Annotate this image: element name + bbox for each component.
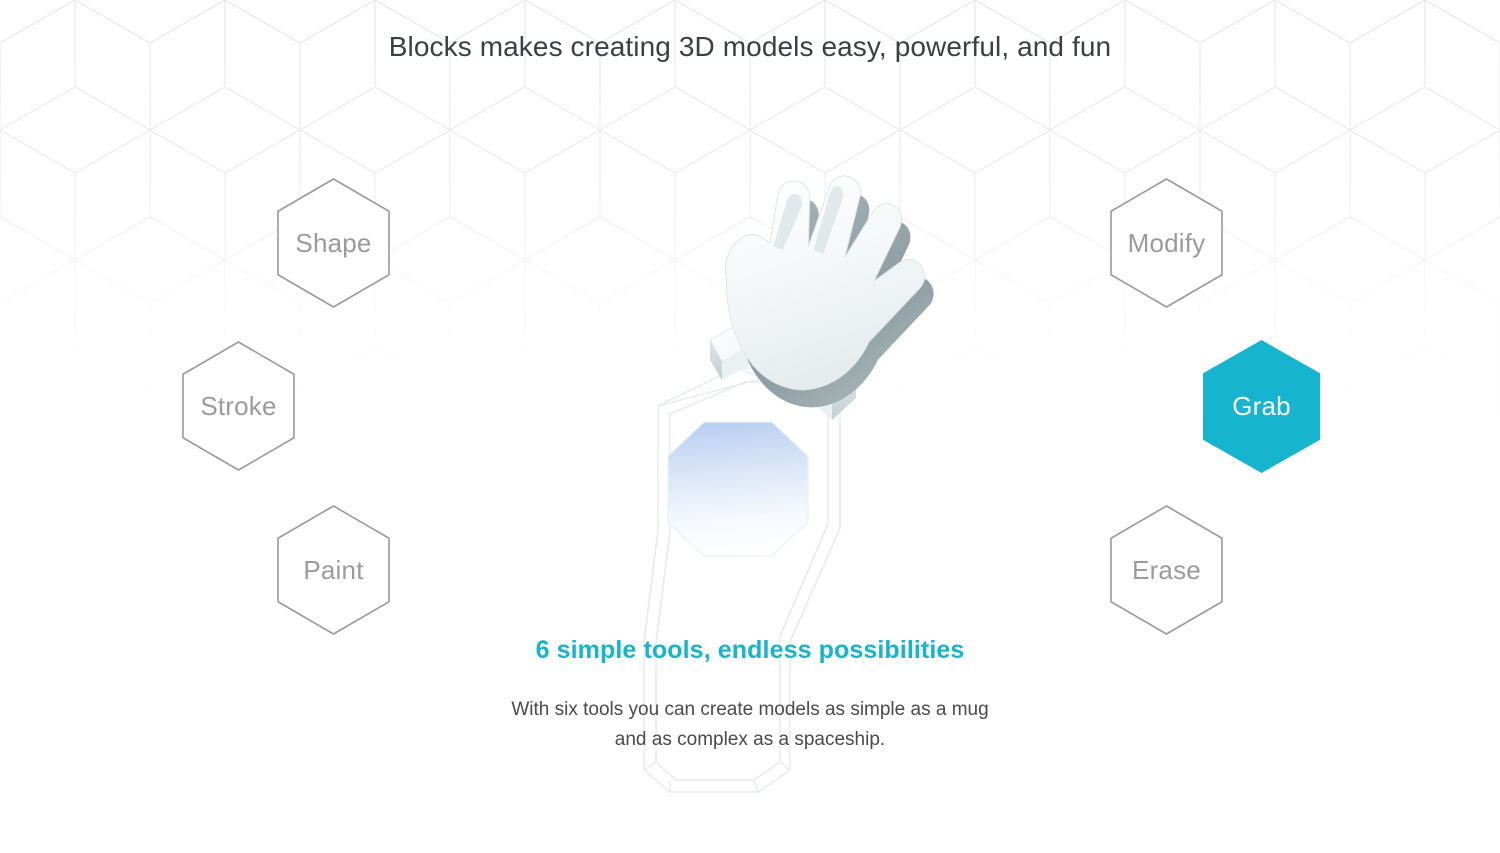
tool-hex-modify-label: Modify [1110, 178, 1223, 308]
tool-hex-paint-label: Paint [277, 505, 390, 635]
vr-hand-icon [696, 153, 956, 431]
tool-hex-grab-label: Grab [1203, 340, 1320, 473]
tool-hex-grab[interactable]: Grab [1203, 340, 1320, 473]
slide-canvas: Blocks makes creating 3D models easy, po… [0, 0, 1500, 853]
tool-hex-stroke[interactable]: Stroke [182, 341, 295, 471]
caption-block: 6 simple tools, endless possibilities Wi… [0, 636, 1500, 755]
tool-hex-shape-label: Shape [277, 178, 390, 308]
tool-hex-stroke-label: Stroke [182, 341, 295, 471]
tool-hex-shape[interactable]: Shape [277, 178, 390, 308]
tool-hex-erase[interactable]: Erase [1110, 505, 1223, 635]
caption-body: With six tools you can create models as … [500, 695, 1000, 755]
tool-hex-paint[interactable]: Paint [277, 505, 390, 635]
controller-touchpad-icon [668, 422, 808, 556]
page-title: Blocks makes creating 3D models easy, po… [0, 31, 1500, 63]
tool-hex-modify[interactable]: Modify [1110, 178, 1223, 308]
tool-hex-erase-label: Erase [1110, 505, 1223, 635]
caption-headline: 6 simple tools, endless possibilities [0, 636, 1500, 665]
